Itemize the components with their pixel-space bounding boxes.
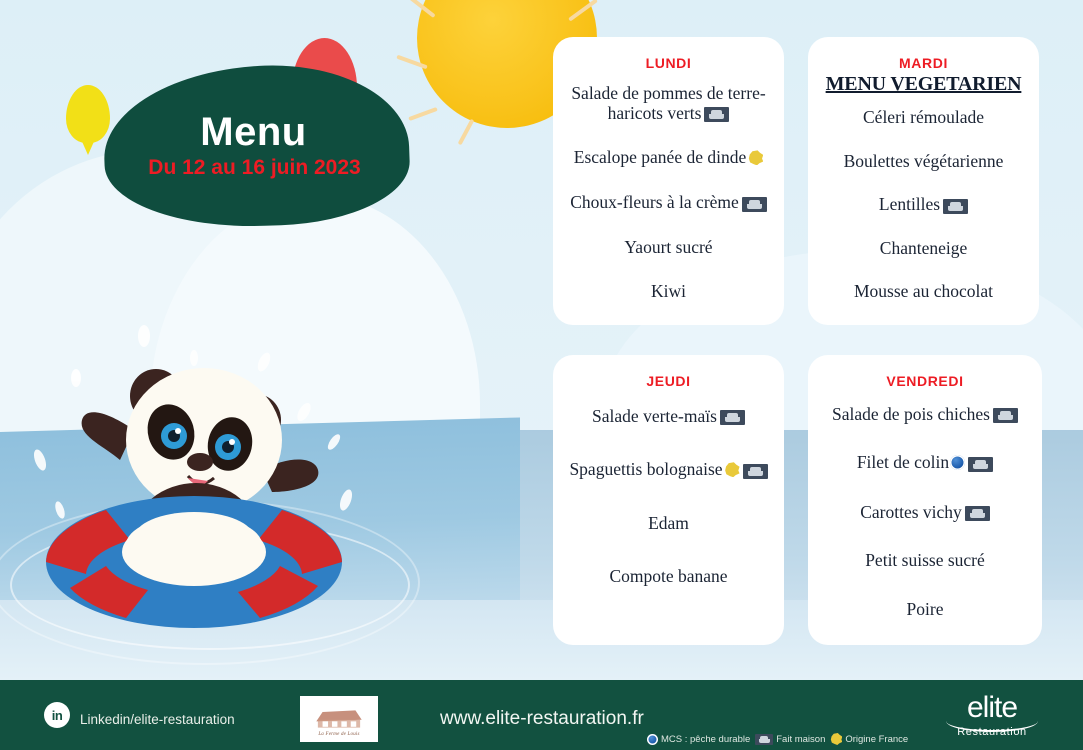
fait-maison-icon	[755, 734, 773, 745]
origine-france-icon	[830, 733, 842, 745]
dish-item: Spaguettis bolognaise	[563, 460, 774, 480]
dish-item: Lentilles	[818, 195, 1029, 215]
fait-maison-icon	[742, 197, 767, 212]
dish-item: Edam	[563, 514, 774, 534]
linkedin-icon[interactable]: in	[44, 702, 70, 728]
legend: MCS : pêche durable Fait maison Origine …	[647, 733, 908, 745]
dish-list: Céleri rémoulade Boulettes végétarienne …	[818, 97, 1029, 313]
day-card-lundi: LUNDI Salade de pommes de terre-haricots…	[553, 37, 784, 325]
fait-maison-icon	[720, 410, 745, 425]
legend-item-fait-maison: Fait maison	[755, 734, 825, 745]
linkedin-link[interactable]: Linkedin/elite-restauration	[80, 712, 235, 727]
dish-item: Chanteneige	[818, 239, 1029, 259]
legend-label: MCS : pêche durable	[661, 734, 750, 745]
dish-list: Salade de pois chiches Filet de colin Ca…	[818, 391, 1032, 633]
origine-france-icon	[748, 150, 763, 165]
legend-label: Origine France	[845, 734, 908, 745]
day-name: LUNDI	[563, 55, 774, 71]
legend-item-mcs: MCS : pêche durable	[647, 734, 750, 745]
dish-item: Escalope panée de dinde	[563, 148, 774, 168]
mcs-peche-durable-icon	[950, 455, 965, 470]
website-url[interactable]: www.elite-restauration.fr	[440, 708, 644, 730]
dish-item: Kiwi	[563, 282, 774, 302]
fait-maison-icon	[993, 408, 1018, 423]
fait-maison-icon	[943, 199, 968, 214]
legend-label: Fait maison	[776, 734, 825, 745]
dish-item: Compote banane	[563, 567, 774, 587]
dish-item: Poire	[818, 600, 1032, 620]
day-card-vendredi: VENDREDI Salade de pois chiches Filet de…	[808, 355, 1042, 645]
fait-maison-icon	[965, 506, 990, 521]
dish-item: Céleri rémoulade	[818, 108, 1029, 128]
day-card-jeudi: JEUDI Salade verte-maïs Spaguettis bolog…	[553, 355, 784, 645]
day-card-mardi: MARDI MENU VEGETARIEN Céleri rémoulade B…	[808, 37, 1039, 325]
menu-poster: Menu Du 12 au 16 juin 2023	[0, 0, 1083, 750]
fait-maison-icon	[968, 457, 993, 472]
mcs-peche-durable-icon	[647, 734, 658, 745]
fait-maison-icon	[704, 107, 729, 122]
day-name: MARDI	[818, 55, 1029, 71]
day-name: VENDREDI	[818, 373, 1032, 389]
elite-restauration-logo: elite Restauration	[944, 693, 1040, 741]
dish-item: Carottes vichy	[818, 503, 1032, 523]
day-name: JEUDI	[563, 373, 774, 389]
dish-item: Filet de colin	[818, 453, 1032, 473]
dish-item: Choux-fleurs à la crème	[563, 193, 774, 213]
dish-item: Boulettes végétarienne	[818, 152, 1029, 172]
legend-item-origine-france: Origine France	[830, 733, 908, 745]
dish-item: Salade de pois chiches	[818, 405, 1032, 425]
vegetarian-banner: MENU VEGETARIEN	[818, 73, 1029, 96]
title-main: Menu	[200, 112, 306, 152]
partner-logo-la-ferme-de-louis: La Ferme de Louis	[300, 696, 378, 742]
dish-list: Salade de pommes de terre-haricots verts…	[563, 73, 774, 313]
panda-mascot-illustration	[16, 300, 376, 630]
title-date-range: Du 12 au 16 juin 2023	[148, 156, 360, 179]
dish-item: Yaourt sucré	[563, 238, 774, 258]
dish-item: Mousse au chocolat	[818, 282, 1029, 302]
dish-item: Petit suisse sucré	[818, 551, 1032, 571]
partner-logo-label: La Ferme de Louis	[300, 732, 378, 737]
dish-item: Salade verte-maïs	[563, 407, 774, 427]
dish-list: Salade verte-maïs Spaguettis bolognaise …	[563, 391, 774, 603]
dish-item: Salade de pommes de terre-haricots verts	[563, 84, 774, 123]
fait-maison-icon	[743, 464, 768, 479]
brand-swoosh	[946, 710, 1038, 732]
origine-france-icon	[725, 462, 740, 477]
page-title: Menu Du 12 au 16 juin 2023	[104, 66, 409, 226]
